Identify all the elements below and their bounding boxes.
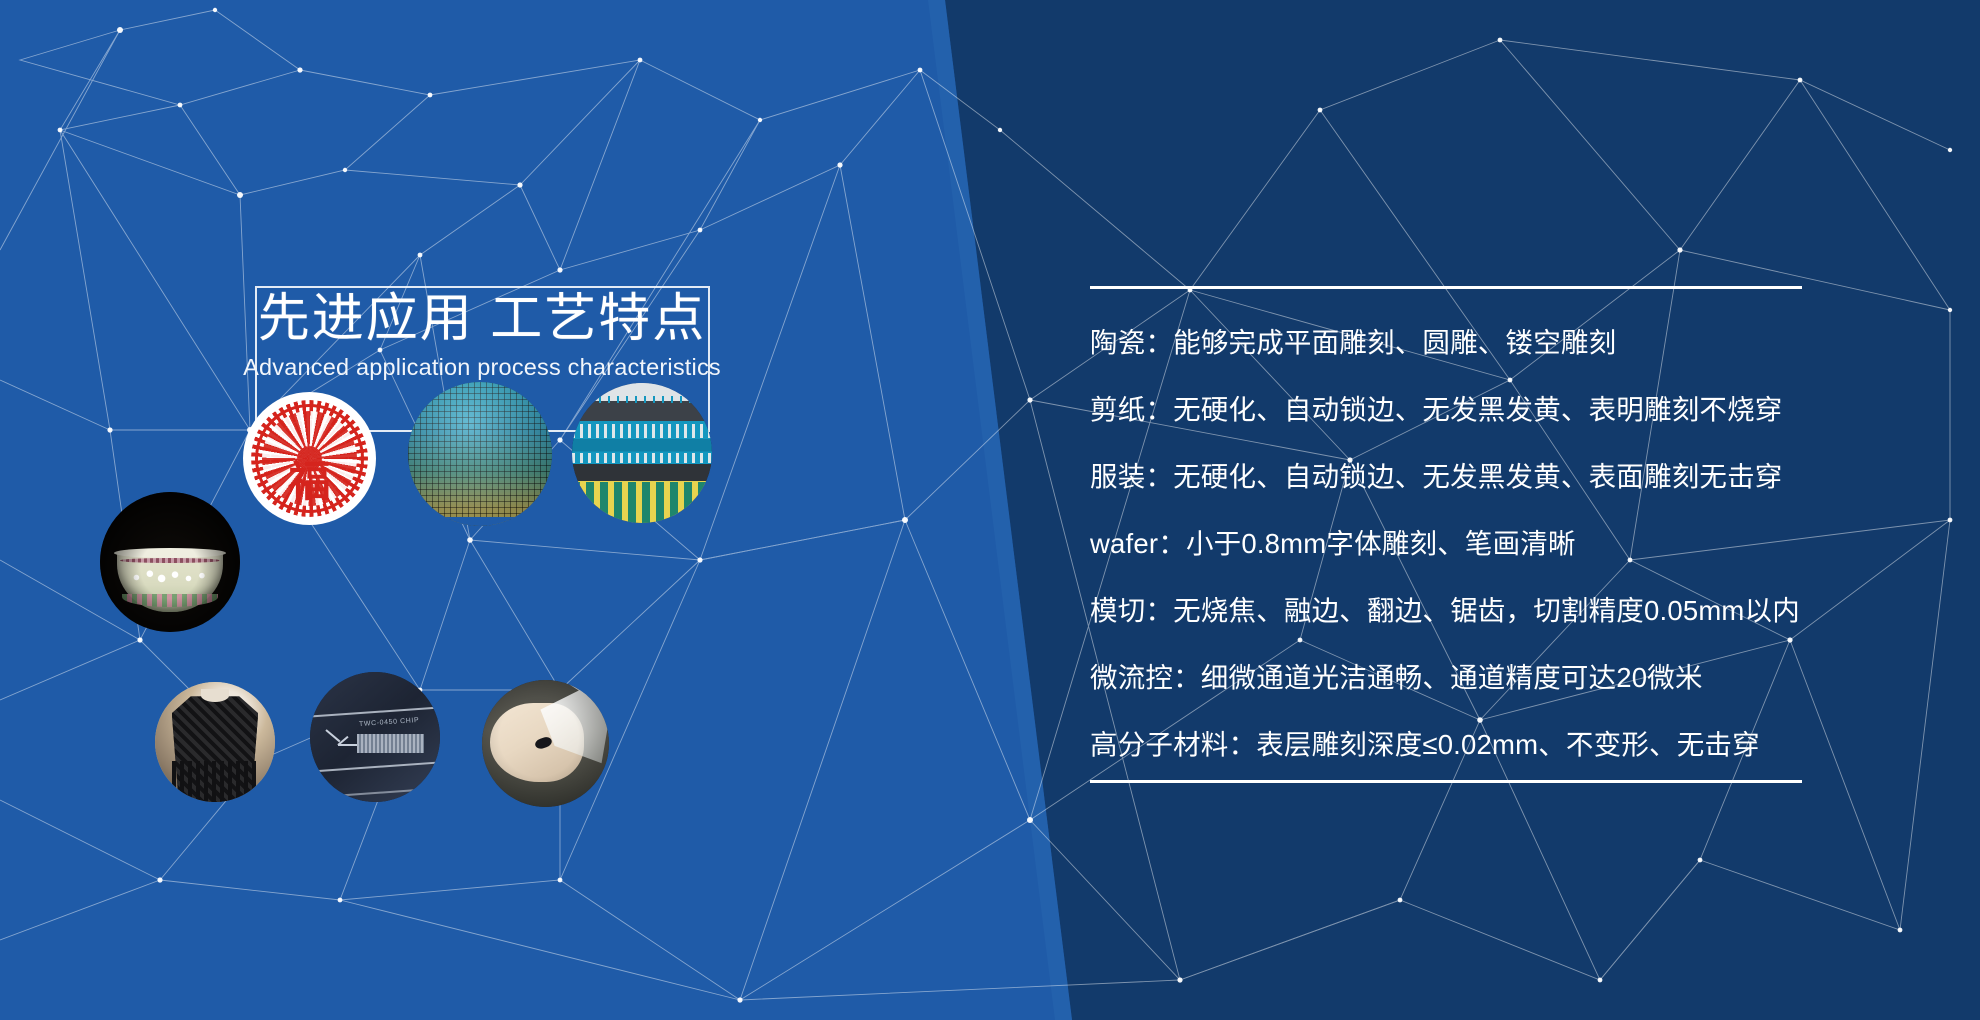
feature-item-wafer: wafer：小于0.8mm字体雕刻、笔画清晰 <box>1090 510 1802 577</box>
gallery-item-microfluidic-chip[interactable]: TWC-0450 CHIP <box>310 672 440 802</box>
stripe-dot-row-a <box>572 396 712 403</box>
chip-serpentine-channel <box>357 734 425 752</box>
feature-list: 陶瓷：能够完成平面雕刻、圆雕、镂空雕刻 剪纸：无硬化、自动锁边、无发黑发黄、表明… <box>1090 309 1802 778</box>
feature-item-papercut: 剪纸：无硬化、自动锁边、无发黑发黄、表明雕刻不烧穿 <box>1090 376 1802 443</box>
gallery-item-ceramic-bowl-engraving[interactable] <box>100 492 240 632</box>
page-subtitle: Advanced application process characteris… <box>222 353 742 381</box>
stripe-dot-row-c <box>572 453 712 463</box>
stripe-dot-row-b <box>572 424 712 438</box>
wafer-flat-edge <box>440 517 521 526</box>
feature-list-panel: 陶瓷：能够完成平面雕刻、圆雕、镂空雕刻 剪纸：无硬化、自动锁边、无发黑发黄、表明… <box>1090 286 1802 783</box>
gallery-item-wafer-stripe-sample[interactable] <box>572 383 712 523</box>
papercut-ring <box>255 404 364 513</box>
page-title-block: 先进应用 工艺特点 Advanced application process c… <box>222 292 742 381</box>
slide-canvas: 先进应用 工艺特点 Advanced application process c… <box>0 0 1980 1020</box>
feature-item-apparel: 服装：无硬化、自动锁边、无发黑发黄、表面雕刻无击穿 <box>1090 443 1802 510</box>
feature-item-polymer: 高分子材料：表层雕刻深度≤0.02mm、不变形、无击穿 <box>1090 711 1802 778</box>
wafer-sheen <box>408 382 552 526</box>
page-title: 先进应用 工艺特点 <box>222 292 742 347</box>
gallery-item-black-garment-laser-cut[interactable] <box>155 682 275 802</box>
feature-item-microfluidics: 微流控：细微通道光洁通畅、通道精度可达20微米 <box>1090 644 1802 711</box>
gallery-item-gloved-hand-polymer-film[interactable] <box>482 680 609 807</box>
bowl-vignette <box>100 492 240 632</box>
feature-list-bottom-rule <box>1090 780 1802 783</box>
gallery-item-silicon-wafer-grid[interactable] <box>408 382 552 526</box>
hand-vignette <box>482 680 609 807</box>
gallery-item-red-papercut-fu[interactable]: 福 <box>243 392 376 525</box>
feature-item-diecut: 模切：无烧焦、融边、翻边、锯齿，切割精度0.05mm以内 <box>1090 577 1802 644</box>
stripe-capsule-array <box>572 482 712 523</box>
feature-item-ceramic: 陶瓷：能够完成平面雕刻、圆雕、镂空雕刻 <box>1090 309 1802 376</box>
garment-fringe <box>172 761 258 802</box>
